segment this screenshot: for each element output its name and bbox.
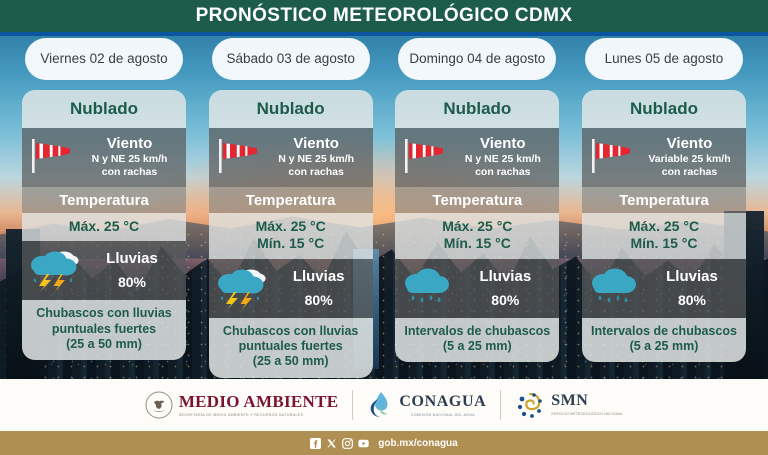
description-4: Intervalos de chubascos(5 a 25 mm) [587, 324, 741, 355]
forecast-card-1: Nublado Viento N y NE [22, 90, 186, 360]
forecast-card-4: Nublado Viento Variab [582, 90, 746, 362]
rain-section-4: Lluvias 80% [582, 259, 746, 318]
wind-label-1: Viento [80, 135, 179, 152]
rain-label-2: Lluvias [271, 268, 367, 286]
temperature-label-2: Temperatura [246, 192, 336, 209]
temp-min-3: Mín. 15 °C [399, 235, 555, 253]
rain-section-2: Lluvias 80% [209, 259, 373, 318]
temp-label-section-2: Temperatura [209, 187, 373, 213]
instagram-icon[interactable] [342, 438, 353, 449]
footer-logos: MEDIO AMBIENTE SECRETARÍA DE MEDIO AMBIE… [0, 379, 768, 431]
wind-section-4: Viento Variable 25 km/hcon rachas [582, 128, 746, 187]
rain-chance-2: 80% [271, 292, 367, 308]
sky-section-1: Nublado [22, 90, 186, 128]
wind-value-4: Variable 25 km/hcon rachas [640, 153, 739, 179]
rain-text-1: Lluvias 80% [84, 250, 180, 290]
facebook-icon[interactable] [310, 438, 321, 449]
wind-text-1: Viento N y NE 25 km/hcon rachas [80, 135, 179, 179]
day-pill-3: Domingo 04 de agosto [398, 38, 556, 80]
wind-text-2: Viento N y NE 25 km/hcon rachas [267, 135, 366, 179]
cloud-rain-icon [588, 266, 640, 310]
forecast-column-3: Domingo 04 de agosto Nublado [391, 38, 563, 379]
day-label-1: Viernes 02 de agosto [40, 51, 167, 67]
smn-subtitle: SERVICIO METEOROLÓGICO NACIONAL [551, 412, 623, 416]
wind-value-2: N y NE 25 km/hcon rachas [267, 153, 366, 179]
temp-max-1: Máx. 25 °C [26, 218, 182, 236]
cloud-lightning-rain-icon [215, 266, 267, 310]
day-label-2: Sábado 03 de agosto [226, 51, 354, 67]
forecast-grid: Viernes 02 de agosto Nublado [0, 32, 768, 379]
sky-section-4: Nublado [582, 90, 746, 128]
sky-section-2: Nublado [209, 90, 373, 128]
description-section-1: Chubascos con lluvias puntuales fuertes(… [22, 300, 186, 360]
forecast-card-2: Nublado Viento N y NE [209, 90, 373, 378]
wind-label-4: Viento [640, 135, 739, 152]
day-label-4: Lunes 05 de agosto [605, 51, 724, 67]
sky-condition-2: Nublado [257, 99, 325, 118]
title-bar: PRONÓSTICO METEOROLÓGICO CDMX [0, 0, 768, 32]
conagua-subtitle: COMISIÓN NACIONAL DEL AGUA [399, 413, 486, 417]
medio-ambiente-logo: MEDIO AMBIENTE SECRETARÍA DE MEDIO AMBIE… [145, 391, 339, 419]
windsock-icon [216, 135, 262, 175]
temp-values-4: Máx. 25 °C Mín. 15 °C [582, 213, 746, 259]
windsock-icon [589, 135, 635, 175]
smn-text: SMN SERVICIO METEOROLÓGICO NACIONAL [551, 393, 623, 416]
forecast-card-3: Nublado Viento N y NE [395, 90, 559, 362]
rain-section-3: Lluvias 80% [395, 259, 559, 318]
description-section-3: Intervalos de chubascos(5 a 25 mm) [395, 318, 559, 363]
temperature-label-1: Temperatura [59, 192, 149, 209]
cloud-lightning-rain-icon [28, 248, 80, 292]
rain-text-4: Lluvias 80% [644, 268, 740, 308]
wind-section-3: Viento N y NE 25 km/hcon rachas [395, 128, 559, 187]
accent-strip [0, 32, 768, 36]
temp-min-2: Mín. 15 °C [213, 235, 369, 253]
weather-forecast-poster: PRONÓSTICO METEOROLÓGICO CDMX Viernes 02… [0, 0, 768, 455]
temp-label-section-1: Temperatura [22, 187, 186, 213]
cloud-rain-icon [401, 266, 453, 310]
temp-label-section-3: Temperatura [395, 187, 559, 213]
rain-label-1: Lluvias [84, 250, 180, 268]
temp-values-3: Máx. 25 °C Mín. 15 °C [395, 213, 559, 259]
medio-ambiente-subtitle: SECRETARÍA DE MEDIO AMBIENTE Y RECURSOS … [179, 413, 339, 417]
wind-label-3: Viento [453, 135, 552, 152]
conagua-text: CONAGUA COMISIÓN NACIONAL DEL AGUA [399, 394, 486, 417]
forecast-column-2: Sábado 03 de agosto Nublado [205, 38, 377, 379]
rain-chance-1: 80% [84, 274, 180, 290]
sky-condition-4: Nublado [630, 99, 698, 118]
conagua-logo: CONAGUA COMISIÓN NACIONAL DEL AGUA [367, 390, 486, 420]
wind-text-3: Viento N y NE 25 km/hcon rachas [453, 135, 552, 179]
rain-text-2: Lluvias 80% [271, 268, 367, 308]
rain-text-3: Lluvias 80% [457, 268, 553, 308]
temp-min-4: Mín. 15 °C [586, 235, 742, 253]
temp-values-2: Máx. 25 °C Mín. 15 °C [209, 213, 373, 259]
medio-ambiente-name: MEDIO AMBIENTE [179, 393, 339, 410]
windsock-icon [402, 135, 448, 175]
conagua-name: CONAGUA [399, 394, 486, 410]
conagua-water-drop-icon [367, 390, 393, 420]
rain-chance-4: 80% [644, 292, 740, 308]
windsock-icon [29, 135, 75, 175]
rain-chance-3: 80% [457, 292, 553, 308]
sky-condition-3: Nublado [443, 99, 511, 118]
rain-label-4: Lluvias [644, 268, 740, 286]
website-handle[interactable]: gob.mx/conagua [378, 438, 457, 449]
smn-spiral-icon [515, 390, 545, 420]
medio-ambiente-text: MEDIO AMBIENTE SECRETARÍA DE MEDIO AMBIE… [179, 393, 339, 417]
forecast-column-1: Viernes 02 de agosto Nublado [18, 38, 190, 379]
day-pill-1: Viernes 02 de agosto [25, 38, 183, 80]
logo-divider-2 [500, 390, 501, 420]
temp-max-2: Máx. 25 °C [213, 218, 369, 236]
smn-logo: SMN SERVICIO METEOROLÓGICO NACIONAL [515, 390, 623, 420]
description-2: Chubascos con lluvias puntuales fuertes(… [214, 324, 368, 370]
temp-label-section-4: Temperatura [582, 187, 746, 213]
temperature-label-4: Temperatura [619, 192, 709, 209]
description-1: Chubascos con lluvias puntuales fuertes(… [27, 306, 181, 352]
wind-section-2: Viento N y NE 25 km/hcon rachas [209, 128, 373, 187]
wind-value-3: N y NE 25 km/hcon rachas [453, 153, 552, 179]
sky-section-3: Nublado [395, 90, 559, 128]
social-bar: gob.mx/conagua [0, 431, 768, 455]
wind-text-4: Viento Variable 25 km/hcon rachas [640, 135, 739, 179]
wind-section-1: Viento N y NE 25 km/hcon rachas [22, 128, 186, 187]
day-pill-4: Lunes 05 de agosto [585, 38, 743, 80]
mexico-eagle-seal-icon [145, 391, 173, 419]
rain-label-3: Lluvias [457, 268, 553, 286]
rain-section-1: Lluvias 80% [22, 241, 186, 300]
x-icon[interactable] [326, 438, 337, 449]
day-label-3: Domingo 04 de agosto [409, 51, 545, 67]
smn-name: SMN [551, 393, 623, 409]
sky-condition-1: Nublado [70, 99, 138, 118]
description-3: Intervalos de chubascos(5 a 25 mm) [400, 324, 554, 355]
page-title: PRONÓSTICO METEOROLÓGICO CDMX [196, 5, 573, 27]
wind-label-2: Viento [267, 135, 366, 152]
temp-max-3: Máx. 25 °C [399, 218, 555, 236]
day-pill-2: Sábado 03 de agosto [212, 38, 370, 80]
wind-value-1: N y NE 25 km/hcon rachas [80, 153, 179, 179]
youtube-icon[interactable] [358, 438, 369, 449]
description-section-4: Intervalos de chubascos(5 a 25 mm) [582, 318, 746, 363]
temp-values-1: Máx. 25 °C [22, 213, 186, 242]
temperature-label-3: Temperatura [432, 192, 522, 209]
forecast-column-4: Lunes 05 de agosto Nublado [578, 38, 750, 379]
description-section-2: Chubascos con lluvias puntuales fuertes(… [209, 318, 373, 378]
logo-divider-1 [352, 390, 353, 420]
temp-max-4: Máx. 25 °C [586, 218, 742, 236]
